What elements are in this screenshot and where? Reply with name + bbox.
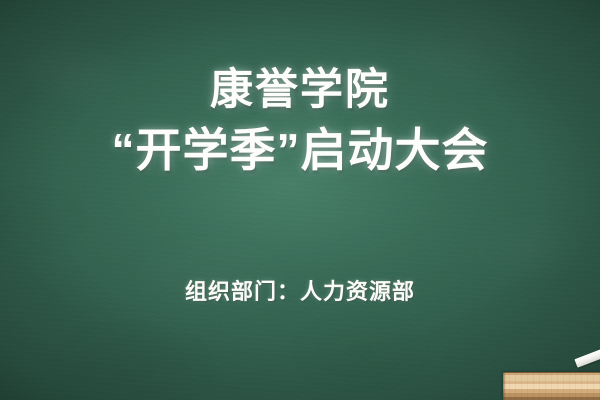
title-line-2: “开学季”启动大会 [0, 120, 600, 180]
wood-grain-texture [503, 372, 600, 400]
chalk-ledge [503, 372, 600, 400]
slide-content: 康誉学院 “开学季”启动大会 组织部门：人力资源部 [0, 0, 600, 400]
presentation-slide: 康誉学院 “开学季”启动大会 组织部门：人力资源部 [0, 0, 600, 400]
title-line-1: 康誉学院 [0, 60, 600, 120]
ledge-left-edge [503, 372, 506, 400]
slide-subtitle-organizing-department: 组织部门：人力资源部 [0, 274, 600, 306]
slide-title: 康誉学院 “开学季”启动大会 [0, 60, 600, 180]
